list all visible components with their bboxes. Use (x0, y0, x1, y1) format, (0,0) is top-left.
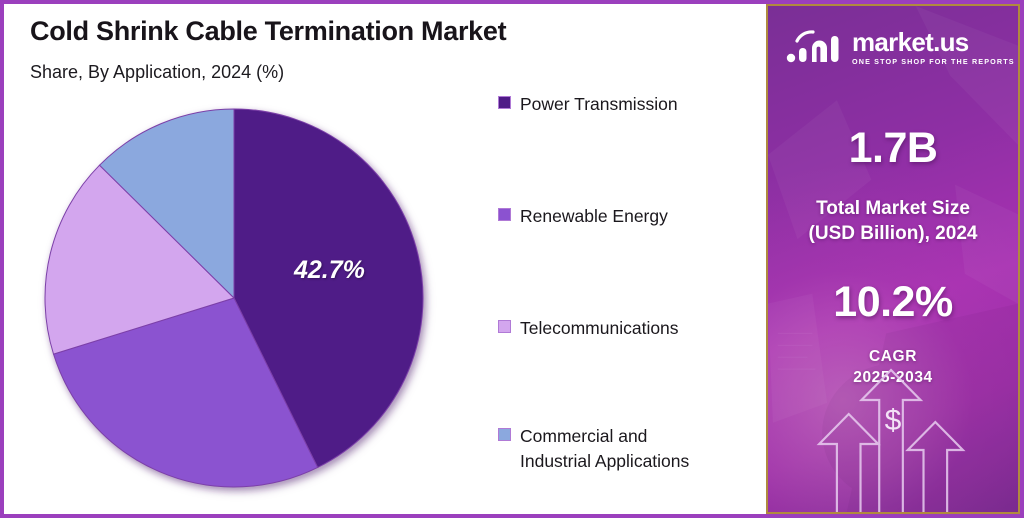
legend-label-power-transmission: Power Transmission (520, 92, 678, 117)
legend-label-line2: Industrial Applications (520, 449, 689, 474)
pie-chart: 42.7% (42, 106, 434, 498)
legend-label-renewable-energy: Renewable Energy (520, 204, 668, 229)
market-size-caption-line2: (USD Billion), 2024 (768, 221, 1018, 246)
brand-name: market.us (852, 29, 1015, 55)
pie-slice-group (45, 109, 423, 487)
legend-item-telecommunications[interactable]: Telecommunications (498, 316, 679, 341)
infographic-root: Cold Shrink Cable Termination Market Sha… (0, 0, 1024, 518)
market-us-bars-logo-icon (786, 28, 844, 66)
brand-text: market.us ONE STOP SHOP FOR THE REPORTS (852, 29, 1015, 66)
pie-chart-svg (42, 106, 434, 498)
growth-arrows-icon (768, 352, 1018, 512)
chart-panel: Cold Shrink Cable Termination Market Sha… (4, 4, 762, 514)
page-title: Cold Shrink Cable Termination Market (30, 16, 506, 47)
legend-item-power-transmission[interactable]: Power Transmission (498, 92, 678, 117)
cagr-value: 10.2% (768, 278, 1018, 327)
legend-label-line1: Commercial and (520, 426, 647, 446)
market-size-value: 1.7B (768, 124, 1018, 173)
pie-slice-label-primary: 42.7% (294, 256, 365, 285)
legend-item-renewable-energy[interactable]: Renewable Energy (498, 204, 668, 229)
legend-swatch-renewable-energy (498, 208, 511, 221)
legend-item-commercial-industrial[interactable]: Commercial andIndustrial Applications (498, 424, 689, 474)
legend-swatch-telecommunications (498, 320, 511, 333)
market-size-caption: Total Market Size (USD Billion), 2024 (768, 196, 1018, 246)
legend-swatch-power-transmission (498, 96, 511, 109)
legend-swatch-commercial-industrial (498, 428, 511, 441)
stats-panel: market.us ONE STOP SHOP FOR THE REPORTS … (766, 4, 1020, 514)
page-subtitle: Share, By Application, 2024 (%) (30, 62, 284, 83)
stats-content: market.us ONE STOP SHOP FOR THE REPORTS … (768, 6, 1018, 512)
market-size-caption-line1: Total Market Size (768, 196, 1018, 221)
legend-label-commercial-industrial: Commercial andIndustrial Applications (520, 424, 689, 474)
brand-tagline: ONE STOP SHOP FOR THE REPORTS (852, 57, 1015, 66)
legend-label-telecommunications: Telecommunications (520, 316, 679, 341)
brand-logo[interactable]: market.us ONE STOP SHOP FOR THE REPORTS (786, 28, 1015, 66)
